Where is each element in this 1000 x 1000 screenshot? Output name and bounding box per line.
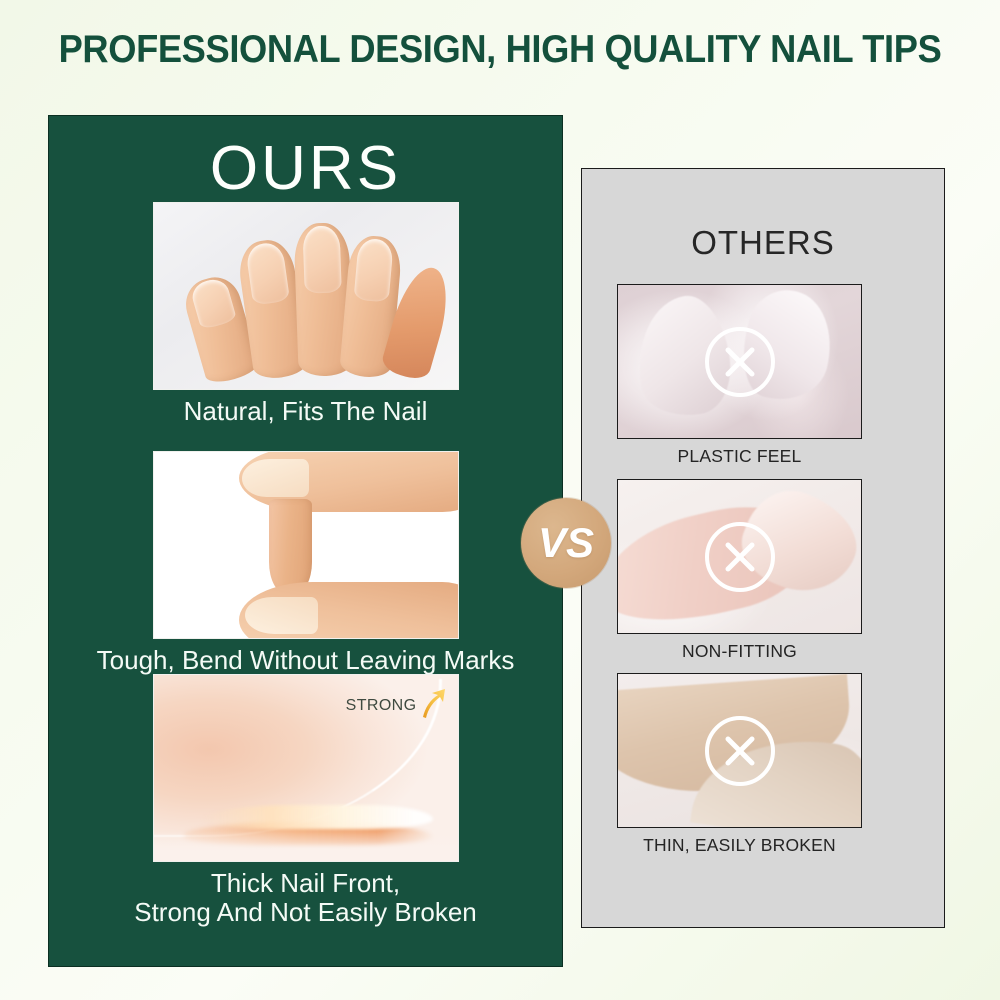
others-caption: THIN, EASILY BROKEN — [617, 835, 862, 856]
others-item-thin-easily-broken: THIN, EASILY BROKEN — [617, 673, 862, 856]
circled-x-icon — [701, 518, 779, 596]
photo-bottom-fade — [154, 831, 458, 861]
others-caption: NON-FITTING — [617, 641, 862, 662]
ours-caption: Thick Nail Front, Strong And Not Easily … — [49, 869, 562, 927]
upward-arrow-icon — [418, 686, 448, 725]
nail-shape — [303, 226, 343, 294]
vs-badge-label: VS — [538, 522, 594, 564]
fingers-bending-nail-tip-photo — [154, 452, 458, 638]
ours-photo-thick-front: STRONG — [153, 674, 459, 862]
comparison-infographic: PROFESSIONAL DESIGN, HIGH QUALITY NAIL T… — [0, 0, 1000, 1000]
ours-caption: Natural, Fits The Nail — [49, 397, 562, 426]
ours-item-thick-front: STRONG — [49, 674, 562, 927]
others-item-non-fitting: NON-FITTING — [617, 479, 862, 662]
bent-nail-tip-shape — [269, 499, 312, 596]
ours-item-natural-fit: Natural, Fits The Nail — [49, 202, 562, 426]
nail-front-glow — [202, 805, 433, 829]
strong-badge: STRONG — [346, 686, 448, 725]
others-panel-title: OTHERS — [582, 224, 944, 262]
others-photo-plastic-feel — [617, 284, 862, 439]
strong-badge-label: STRONG — [346, 697, 417, 715]
others-panel: OTHERS PLASTIC FEEL — [581, 168, 945, 928]
others-caption: PLASTIC FEEL — [617, 446, 862, 467]
ours-photo-natural-fit — [153, 202, 459, 390]
ours-photo-tough-bend — [153, 451, 459, 639]
nail-shape — [189, 276, 237, 330]
circled-x-icon — [701, 712, 779, 790]
others-item-plastic-feel: PLASTIC FEEL — [617, 284, 862, 467]
vs-badge: VS — [521, 498, 611, 588]
page-title: PROFESSIONAL DESIGN, HIGH QUALITY NAIL T… — [35, 28, 965, 72]
nail-shape — [244, 241, 289, 306]
lower-nail-shape — [245, 597, 318, 634]
ours-panel: OURS Natural, Fits The Nail — [48, 115, 563, 967]
hand-with-natural-nail-tips-photo — [154, 203, 458, 389]
ours-caption: Tough, Bend Without Leaving Marks — [49, 646, 562, 675]
nail-shape — [354, 238, 394, 303]
ours-item-tough-bend: Tough, Bend Without Leaving Marks — [49, 451, 562, 675]
circled-x-icon — [701, 323, 779, 401]
others-photo-non-fitting — [617, 479, 862, 634]
others-photo-thin-easily-broken — [617, 673, 862, 828]
ours-panel-title: OURS — [49, 133, 562, 204]
upper-nail-shape — [242, 459, 309, 496]
